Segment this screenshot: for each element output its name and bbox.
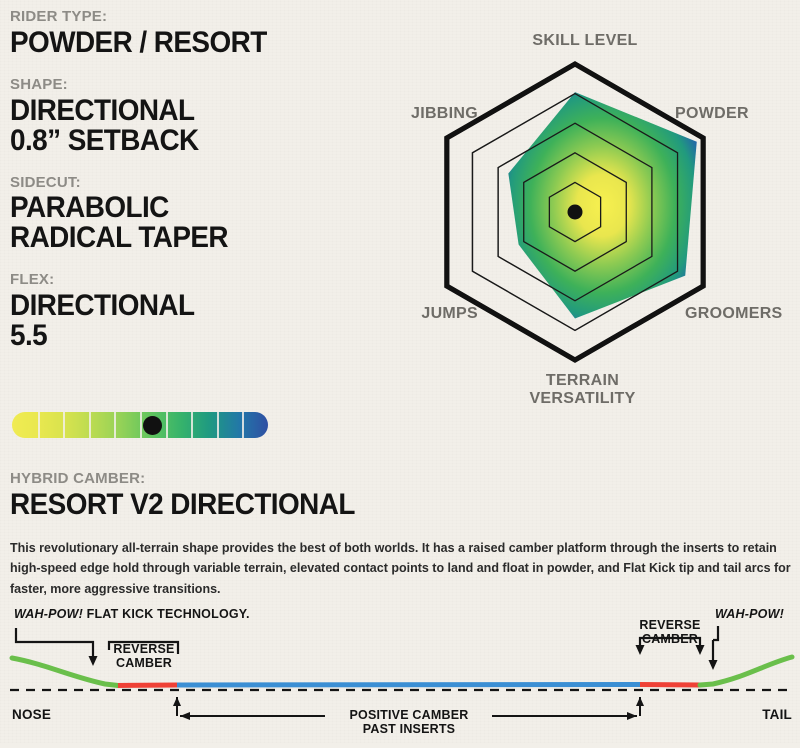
spec-label-flex: FLEX: [10, 271, 410, 290]
camber-positive-segment [177, 685, 640, 686]
tail-label: TAIL [722, 707, 792, 723]
flex-meter-divider [38, 412, 40, 438]
tail-tech-label: WAH-POW! [715, 607, 793, 621]
flex-meter-divider [140, 412, 142, 438]
radar-label-jumps: JUMPS [368, 305, 478, 323]
nose-tech-arrowhead [89, 656, 98, 666]
positive-camber-label: POSITIVE CAMBER PAST INSERTS [325, 708, 493, 737]
spec-column: RIDER TYPE: POWDER / RESORT SHAPE: DIREC… [10, 8, 410, 358]
positive-camber-arrow-up-right [636, 697, 644, 706]
flex-meter-divider [63, 412, 65, 438]
radar-center-dot [568, 205, 583, 220]
positive-camber-arrowhead-left [180, 712, 190, 720]
camber-nose-tip-arc [12, 658, 118, 686]
spec-value-shape: DIRECTIONAL 0.8” SETBACK [10, 96, 382, 156]
spec-value-hybrid-camber: RESORT V2 DIRECTIONAL [10, 490, 568, 520]
nose-tech-bracket [16, 628, 93, 656]
camber-profile-diagram: WAH-POW! FLAT KICK TECHNOLOGY. REVERSE C… [0, 598, 800, 743]
spec-label-sidecut: SIDECUT: [10, 174, 410, 193]
spec-flex: FLEX: DIRECTIONAL 5.5 [10, 271, 410, 351]
spec-value-rider-type: POWDER / RESORT [10, 28, 382, 58]
nose-label: NOSE [12, 707, 82, 723]
flex-meter-divider [217, 412, 219, 438]
spec-rider-type: RIDER TYPE: POWDER / RESORT [10, 8, 410, 58]
camber-nose-reverse-segment [118, 685, 177, 686]
tail-reverse-camber-label: REVERSE CAMBER [630, 618, 710, 647]
spec-label-shape: SHAPE: [10, 76, 410, 95]
tail-tech-bracket [713, 626, 718, 640]
spec-label-hybrid-camber: HYBRID CAMBER: [10, 470, 610, 489]
spec-hybrid-camber: HYBRID CAMBER: RESORT V2 DIRECTIONAL [10, 470, 610, 520]
positive-camber-arrowhead-right [627, 712, 637, 720]
flex-meter-divider [166, 412, 168, 438]
radar-label-jibbing: JIBBING [362, 105, 478, 123]
nose-tech-label-emphasis: WAH-POW! [14, 607, 83, 621]
flex-meter-divider [114, 412, 116, 438]
flex-meter-divider [191, 412, 193, 438]
spec-value-sidecut: PARABOLIC RADICAL TAPER [10, 193, 382, 253]
radar-label-terrain-versatility: TERRAIN VERSATILITY [475, 372, 690, 407]
radar-label-powder: POWDER [675, 105, 800, 123]
spec-shape: SHAPE: DIRECTIONAL 0.8” SETBACK [10, 76, 410, 156]
flex-meter[interactable] [12, 412, 268, 438]
spec-value-flex: DIRECTIONAL 5.5 [10, 291, 382, 351]
radar-label-groomers: GROOMERS [685, 305, 800, 323]
radar-label-skill-level: SKILL LEVEL [480, 32, 690, 50]
radar-chart-svg [370, 10, 800, 430]
nose-tech-label: WAH-POW! FLAT KICK TECHNOLOGY. [14, 607, 274, 621]
nose-reverse-camber-label: REVERSE CAMBER [105, 642, 183, 671]
spec-label-rider-type: RIDER TYPE: [10, 8, 410, 27]
spec-sidecut: SIDECUT: PARABOLIC RADICAL TAPER [10, 174, 410, 254]
radar-chart: SKILL LEVEL POWDER GROOMERS TERRAIN VERS… [370, 10, 800, 430]
nose-tech-label-rest: FLAT KICK TECHNOLOGY. [83, 607, 250, 621]
description-paragraph: This revolutionary all-terrain shape pro… [10, 538, 792, 599]
flex-meter-divider [242, 412, 244, 438]
positive-camber-arrow-up-left [173, 697, 181, 706]
tail-tech-arrowhead [709, 660, 718, 670]
flex-meter-marker[interactable] [143, 416, 162, 435]
camber-tail-reverse-segment [640, 685, 700, 686]
flex-meter-divider [89, 412, 91, 438]
